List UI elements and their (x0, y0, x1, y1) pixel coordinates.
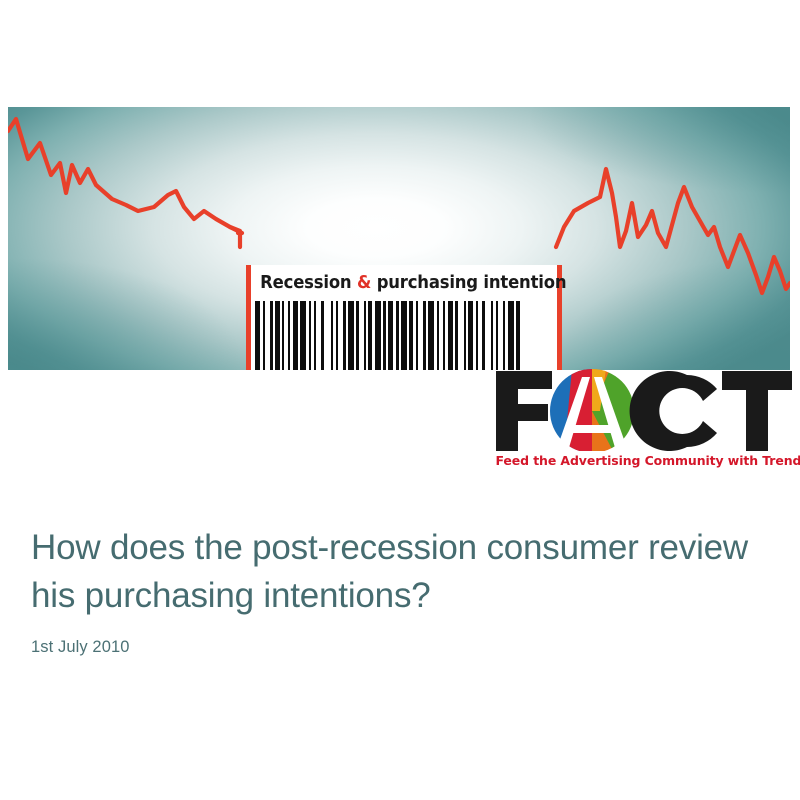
barcode-label-ampersand: & (357, 273, 371, 293)
fact-tagline: Feed the Advertising Community with Tren… (496, 453, 793, 468)
fact-logo: Feed the Advertising Community with Tren… (494, 367, 794, 479)
hero-banner: Recession & purchasing intention (8, 107, 790, 370)
barcode-gap (520, 301, 523, 370)
trend-line-right (556, 169, 790, 293)
barcode-gap (324, 301, 331, 370)
barcode-graphic: Recession & purchasing intention (246, 265, 562, 370)
logo-letter-c (602, 369, 717, 453)
barcode-label-suffix: purchasing intention (371, 273, 566, 293)
logo-letter-t (722, 371, 792, 451)
barcode-label: Recession & purchasing intention (260, 273, 548, 293)
barcode-bars (255, 301, 553, 370)
page-title: How does the post-recession consumer rev… (31, 524, 761, 620)
barcode-label-prefix: Recession (260, 273, 357, 293)
trend-line-left (8, 119, 242, 233)
presentation-date: 1st July 2010 (31, 638, 761, 657)
logo-letter-f (496, 371, 552, 451)
title-block: How does the post-recession consumer rev… (31, 524, 761, 657)
fact-wordmark (494, 367, 794, 455)
